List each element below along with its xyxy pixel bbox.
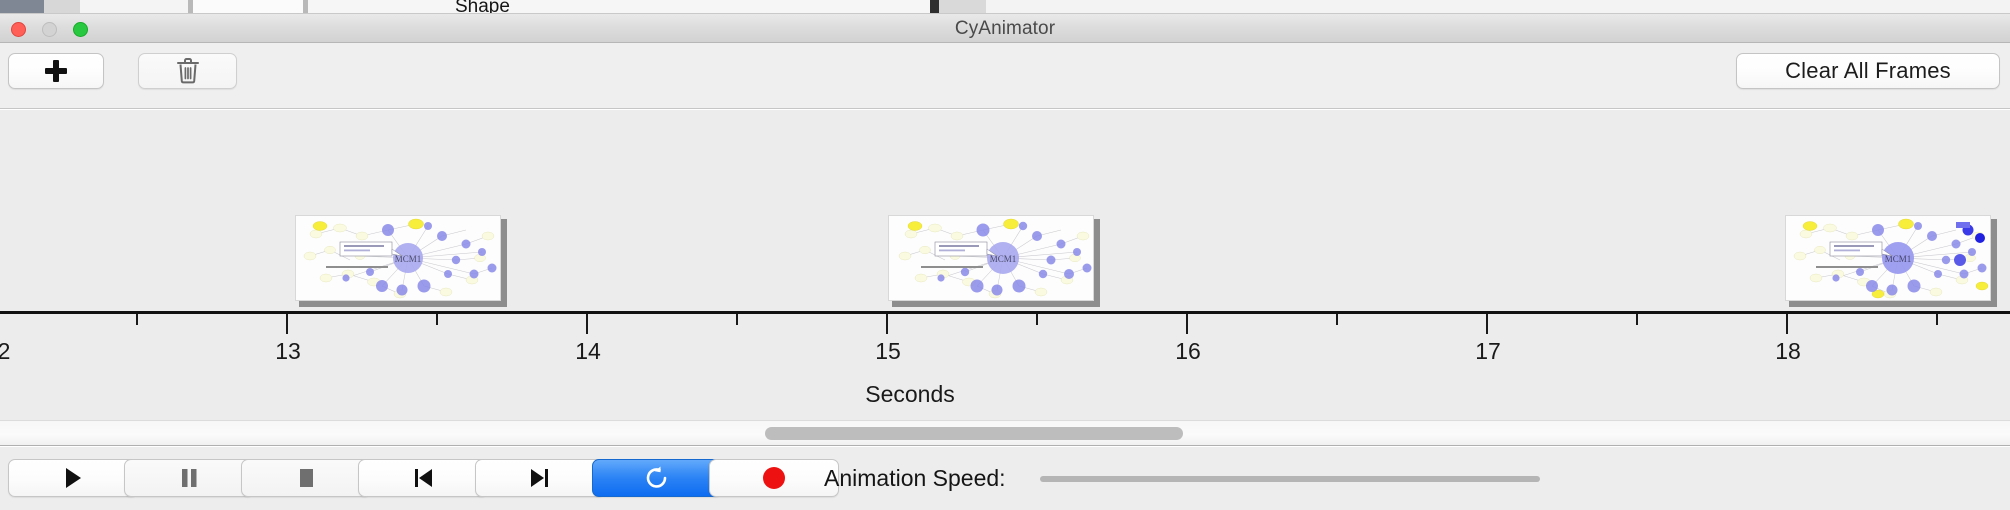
frame-thumbnail-2[interactable]: MCM1 xyxy=(888,215,1096,303)
axis-tick-minor xyxy=(136,314,138,325)
axis-tick-major xyxy=(1786,314,1788,334)
axis-tick-minor xyxy=(436,314,438,325)
next-frame-button[interactable] xyxy=(475,459,605,497)
loop-button[interactable] xyxy=(592,459,722,497)
timeline-canvas[interactable]: MCM1 xyxy=(0,110,2010,422)
axis-title-text: Seconds xyxy=(865,381,955,407)
skip-forward-icon xyxy=(528,466,552,490)
axis-title: Seconds xyxy=(0,381,2010,408)
skip-back-icon xyxy=(411,466,435,490)
axis-tick-minor xyxy=(1336,314,1338,325)
axis-tick-major xyxy=(286,314,288,334)
axis-tick-major xyxy=(1486,314,1488,334)
timeline-scrollbar[interactable] xyxy=(0,420,2010,446)
axis-tick-major xyxy=(886,314,888,334)
toolbar: Clear All Frames xyxy=(0,43,2010,109)
axis-tick-minor xyxy=(1036,314,1038,325)
previous-frame-button[interactable] xyxy=(358,459,488,497)
animation-speed-label: Animation Speed: xyxy=(824,459,1006,497)
cyanimator-window: Shape CyAnimator Clear All Frames xyxy=(0,0,2010,510)
playback-control-bar: Animation Speed: xyxy=(0,447,2010,510)
play-button[interactable] xyxy=(8,459,138,497)
axis-tick-minor xyxy=(1936,314,1938,325)
window-title: CyAnimator xyxy=(0,14,2010,43)
record-icon xyxy=(761,465,787,491)
stop-icon xyxy=(295,466,317,490)
axis-tick-label: 18 xyxy=(1775,338,1801,365)
axis-tick-label: 15 xyxy=(875,338,901,365)
background-window-label: Shape xyxy=(455,0,510,14)
clear-all-frames-button[interactable]: Clear All Frames xyxy=(1736,53,2000,89)
plus-icon xyxy=(45,60,67,82)
frame-network-preview: MCM1 xyxy=(295,215,501,301)
clear-all-frames-label: Clear All Frames xyxy=(1785,58,1951,84)
loop-icon xyxy=(645,465,669,491)
add-frame-button[interactable] xyxy=(8,53,104,89)
axis-tick-label: 17 xyxy=(1475,338,1501,365)
frame-thumbnail-3[interactable]: MCM1 xyxy=(1785,215,1993,303)
animation-speed-slider[interactable] xyxy=(1040,476,1540,482)
background-desktop-strip: Shape xyxy=(0,0,2010,14)
axis-tick-minor xyxy=(1636,314,1638,325)
delete-frame-button[interactable] xyxy=(138,53,237,89)
timeline-scrollbar-thumb[interactable] xyxy=(765,427,1183,440)
frame-thumbnail-1[interactable]: MCM1 xyxy=(295,215,503,303)
axis-tick-label: 13 xyxy=(275,338,301,365)
title-bar[interactable]: CyAnimator xyxy=(0,14,2010,43)
axis-tick-minor xyxy=(736,314,738,325)
timeline-axis-line xyxy=(0,311,2010,314)
frame-network-preview: MCM1 xyxy=(888,215,1094,301)
trash-icon xyxy=(176,58,200,84)
pause-icon xyxy=(178,466,200,490)
axis-tick-major xyxy=(1186,314,1188,334)
axis-tick-label: 14 xyxy=(575,338,601,365)
stop-button[interactable] xyxy=(241,459,371,497)
record-button[interactable] xyxy=(709,459,839,497)
axis-tick-label: 16 xyxy=(1175,338,1201,365)
play-icon xyxy=(62,466,84,490)
pause-button[interactable] xyxy=(124,459,254,497)
frame-network-preview: MCM1 xyxy=(1785,215,1991,301)
axis-tick-major xyxy=(586,314,588,334)
axis-tick-label: 2 xyxy=(0,338,10,365)
